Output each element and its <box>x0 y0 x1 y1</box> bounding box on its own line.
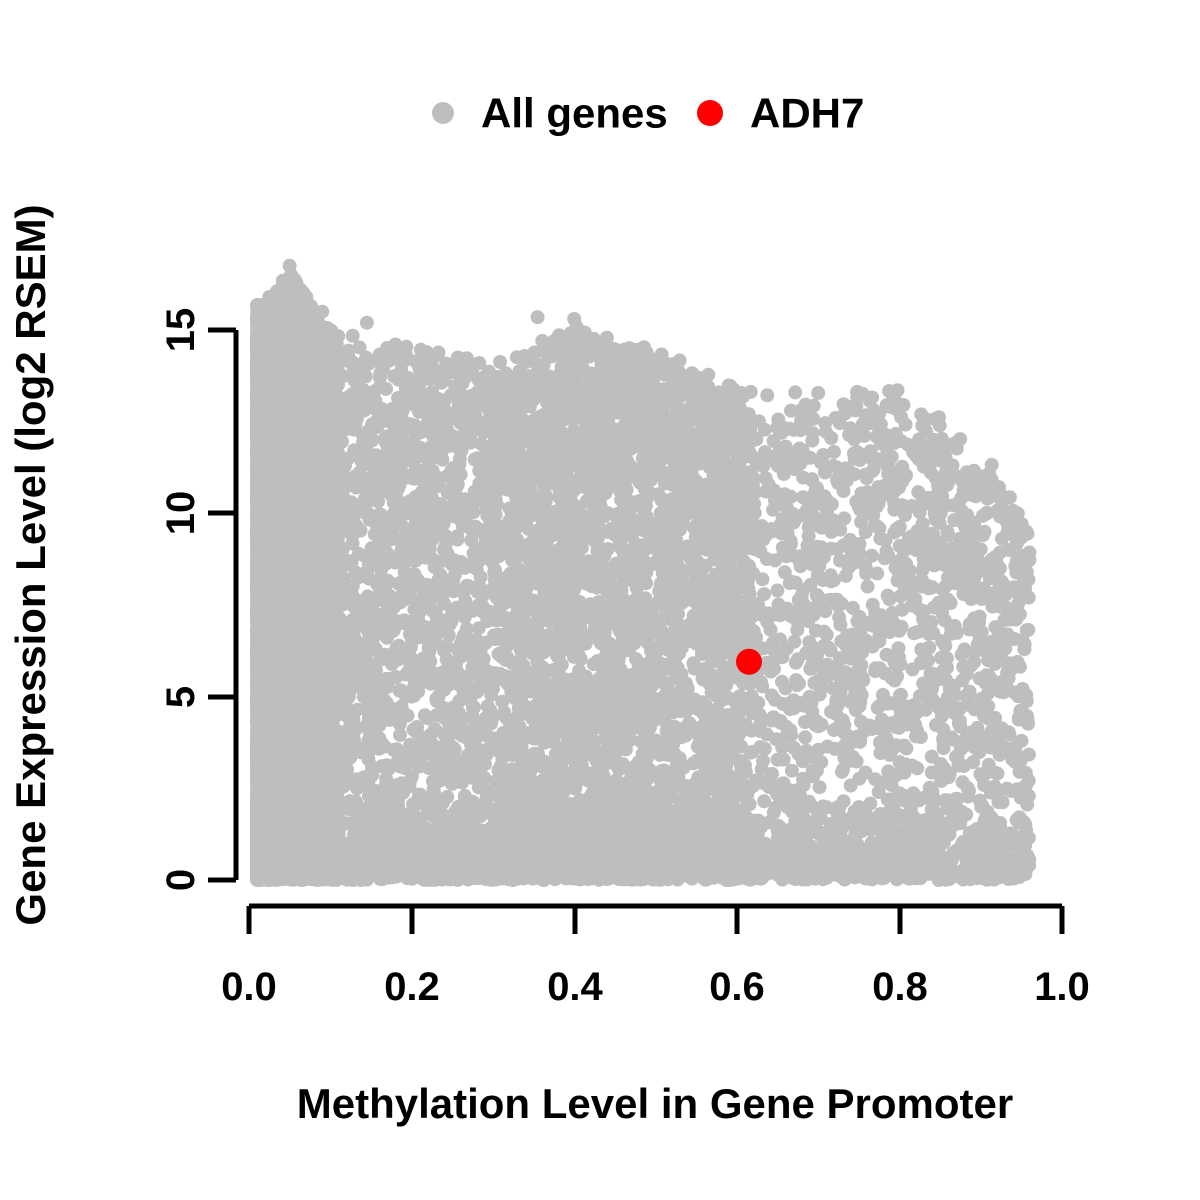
legend-label-all-genes: All genes <box>481 90 668 137</box>
legend-marker-all-genes-icon <box>432 102 454 124</box>
adh7-point[interactable] <box>736 649 762 675</box>
x-tick-label-1.0: 1.0 <box>1034 965 1090 1009</box>
x-tick-label-0.0: 0.0 <box>221 965 277 1009</box>
adh7-marker[interactable] <box>736 649 762 675</box>
x-tick-label-0.4: 0.4 <box>547 965 603 1009</box>
x-tick-label-0.6: 0.6 <box>709 965 765 1009</box>
legend: All genes ADH7 <box>432 90 864 137</box>
y-tick-label-0: 0 <box>159 869 203 891</box>
x-tick-label-0.2: 0.2 <box>384 965 440 1009</box>
y-axis-title: Gene Expression Level (log2 RSEM) <box>7 204 54 925</box>
y-tick-label-10: 10 <box>159 491 203 536</box>
y-tick-label-15: 15 <box>159 308 203 353</box>
scatter-plot-figure: 15 10 5 0 0.0 0.2 0.4 0.6 0.8 1.0 Methyl… <box>0 0 1200 1200</box>
y-tick-label-5: 5 <box>159 686 203 708</box>
x-axis-title: Methylation Level in Gene Promoter <box>297 1080 1013 1127</box>
x-tick-label-0.8: 0.8 <box>872 965 928 1009</box>
plot-canvas: 15 10 5 0 0.0 0.2 0.4 0.6 0.8 1.0 Methyl… <box>0 0 1200 1200</box>
legend-marker-adh7-icon <box>697 100 723 126</box>
legend-label-adh7: ADH7 <box>750 90 864 137</box>
